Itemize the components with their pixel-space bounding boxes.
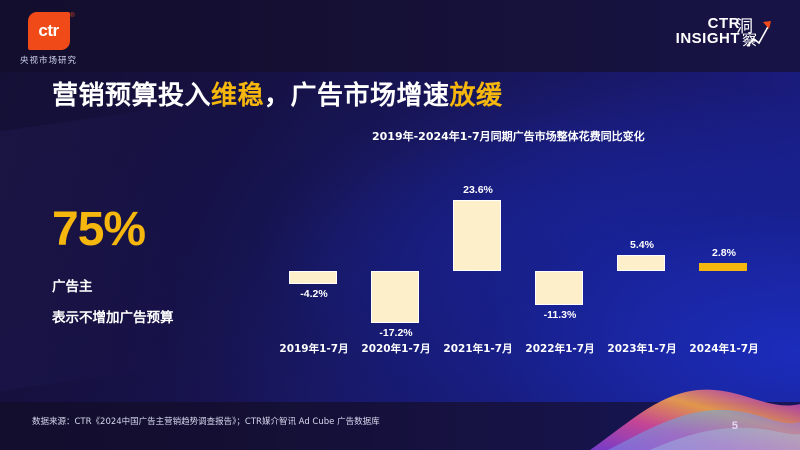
ctr-insight-line1: CTR	[668, 17, 740, 31]
bar-group: -11.3%2022年1-7月	[521, 165, 599, 340]
ctr-logo-mark: ctr ®	[28, 12, 70, 50]
ctr-insight-logo: CTR INSIGHT 洞 察	[666, 10, 786, 58]
bar-group: -17.2%2020年1-7月	[357, 165, 435, 340]
bar	[699, 263, 747, 271]
bar-group: -4.2%2019年1-7月	[275, 165, 353, 340]
bar	[453, 200, 501, 271]
title-part-1: 营销预算投入	[52, 81, 211, 111]
insight-cn-badge: 洞 察	[736, 12, 770, 52]
slide-canvas: ctr ® 央视市场研究 CTR INSIGHT 洞 察 营销预算投入维稳，广告…	[0, 0, 800, 450]
ctr-insight-wordmark: CTR INSIGHT	[668, 17, 740, 47]
bar-group: 23.6%2021年1-7月	[439, 165, 517, 340]
title-highlight-2: 放缓	[450, 81, 503, 111]
ctr-logo-text: ctr	[38, 21, 58, 41]
chart-title: 2019年-2024年1-7月同期广告市场整体花费同比变化	[372, 128, 645, 144]
bar-value-label: 2.8%	[685, 247, 763, 259]
title-part-2: ，广告市场增速	[264, 81, 450, 111]
registered-mark-icon: ®	[70, 13, 74, 19]
page-number: 5	[732, 420, 738, 432]
bar	[289, 271, 337, 284]
page-title: 营销预算投入维稳，广告市场增速放缓	[52, 75, 503, 112]
data-source-note: 数据来源：CTR《2024中国广告主营销趋势调查报告》；CTR媒介智讯 Ad C…	[32, 415, 380, 427]
bar-value-label: 5.4%	[603, 239, 681, 251]
bar-value-label: -4.2%	[275, 288, 353, 300]
bar-group: 5.4%2023年1-7月	[603, 165, 681, 340]
bar-group: 2.8%2024年1-7月	[685, 165, 763, 340]
stat-label-line2: 表示不增加广告预算	[52, 306, 174, 326]
bar-value-label: 23.6%	[439, 184, 517, 196]
bar	[535, 271, 583, 305]
bar-value-label: -17.2%	[357, 327, 435, 339]
stat-label-line1: 广告主	[52, 275, 174, 295]
ctr-logo-subtitle: 央视市场研究	[20, 54, 77, 66]
x-axis-label: 2024年1-7月	[683, 341, 765, 356]
x-axis-label: 2021年1-7月	[437, 341, 519, 356]
title-highlight-1: 维稳	[211, 81, 264, 111]
x-axis-label: 2020年1-7月	[355, 341, 437, 356]
bar-value-label: -11.3%	[521, 309, 599, 321]
ctr-insight-line2: INSIGHT	[668, 31, 740, 47]
ctr-logo: ctr ® 央视市场研究	[20, 12, 77, 66]
x-axis-label: 2019年1-7月	[273, 341, 355, 356]
bar	[371, 271, 419, 323]
x-axis-label: 2022年1-7月	[519, 341, 601, 356]
x-axis-label: 2023年1-7月	[601, 341, 683, 356]
stat-block: 75% 广告主 表示不增加广告预算	[52, 205, 174, 326]
bar	[617, 255, 665, 271]
bar-chart: -4.2%2019年1-7月-17.2%2020年1-7月23.6%2021年1…	[275, 165, 775, 360]
growth-arrow-icon	[746, 18, 772, 48]
stat-value: 75%	[52, 205, 174, 255]
